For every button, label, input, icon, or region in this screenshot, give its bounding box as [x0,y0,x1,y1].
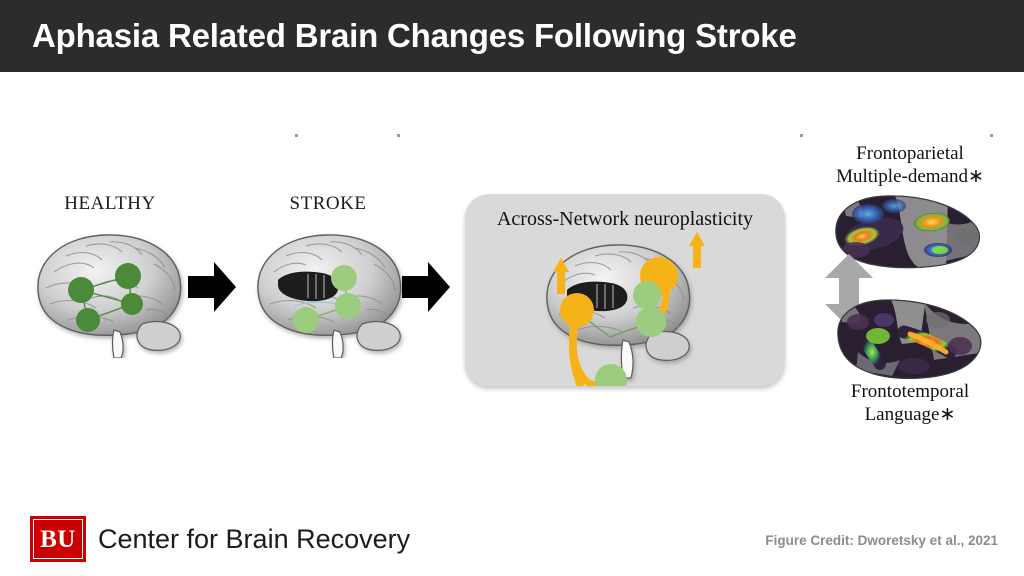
network-up-arrow-right-icon [689,232,705,268]
speck-artifact [397,134,400,137]
frontoparietal-label-line1: Frontoparietal [800,142,1020,165]
network-green-node [636,307,666,337]
frontotemporal-label: Frontotemporal Language∗ [800,380,1020,426]
stroke-brain-svg [248,228,418,358]
slide-header: Aphasia Related Brain Changes Following … [0,0,1024,72]
across-network-panel: Across-Network neuroplasticity [465,194,785,386]
stroke-node [331,265,357,291]
bu-logo-text: BU [33,519,83,559]
speck-artifact [990,134,993,137]
arrow-healthy-to-stroke-icon [186,258,238,321]
frontotemporal-label-line1: Frontotemporal [800,380,1020,403]
healthy-node [68,277,94,303]
healthy-node [121,293,143,315]
stroke-node [293,307,319,333]
speck-artifact [295,134,298,137]
bu-logo: BU [30,516,86,562]
frontoparietal-label-line2: Multiple-demand∗ [800,165,1020,188]
frontotemporal-label-line2: Language∗ [800,403,1020,426]
speck-artifact [800,134,803,137]
network-brain-figure [465,232,785,386]
network-green-node [633,281,661,309]
frontotemporal-brain-map [828,296,988,384]
figure-credit: Figure Credit: Dworetsky et al., 2021 [765,533,998,548]
network-brain-svg [465,232,785,386]
healthy-stage-label: HEALTHY [20,193,200,215]
organization-name: Center for Brain Recovery [98,524,410,555]
network-orange-node [560,293,594,327]
frontotemporal-map-svg [828,296,988,384]
stroke-brain-figure [248,228,418,358]
healthy-node [76,308,100,332]
arrow-stroke-to-network-icon [400,258,452,321]
healthy-node [115,263,141,289]
across-network-label: Across-Network neuroplasticity [465,208,785,231]
stroke-stage-label: STROKE [238,193,418,215]
stroke-node [335,293,361,319]
slide-root: Aphasia Related Brain Changes Following … [0,0,1024,576]
page-title: Aphasia Related Brain Changes Following … [32,16,797,56]
frontoparietal-label: Frontoparietal Multiple-demand∗ [800,142,1020,188]
healthy-brain-svg [28,228,198,358]
healthy-brain-figure [28,228,198,358]
